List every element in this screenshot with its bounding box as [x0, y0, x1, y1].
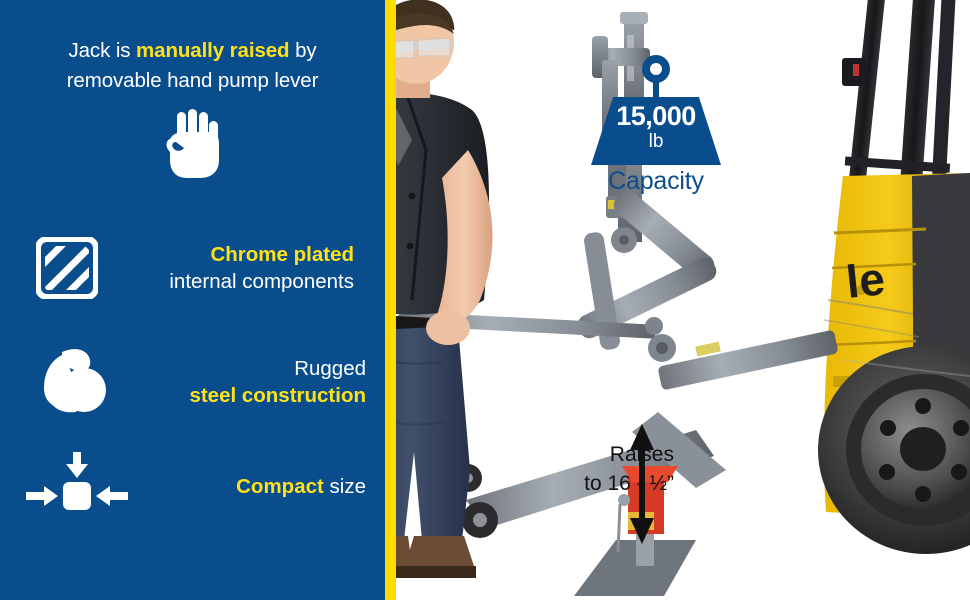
worker	[396, 0, 493, 578]
compact-arrows-icon	[22, 452, 132, 520]
capacity-unit: lb	[591, 131, 721, 153]
feature-steel-construction: Rugged steel construction	[34, 348, 374, 416]
fist-icon-wrap	[0, 108, 385, 185]
fist-icon	[162, 108, 224, 180]
headline-line2: removable hand pump lever	[0, 66, 385, 96]
weight-body: 15,000 lb	[591, 97, 721, 165]
chrome-plate-icon	[36, 237, 98, 299]
feature-compact-size: Compact size	[22, 452, 372, 520]
forklift-brand-text: le	[844, 252, 888, 308]
feature-compact-text: Compact size	[146, 473, 366, 500]
feature-steel-highlight: steel construction	[126, 382, 366, 409]
forklift: le	[818, 0, 970, 554]
double-arrow-vertical-icon	[629, 424, 655, 544]
headline-part1: Jack is	[68, 39, 136, 62]
headline: Jack is manually raised by removable han…	[0, 36, 385, 96]
feature-chrome-text: Chrome plated internal components	[116, 241, 354, 295]
headline-highlight: manually raised	[136, 39, 289, 62]
feature-chrome-plated: Chrome plated internal components	[36, 237, 366, 299]
capacity-value: 15,000	[591, 101, 721, 132]
feature-compact-rest: size	[324, 475, 366, 498]
capacity-label: Capacity	[591, 167, 721, 196]
feature-panel: Jack is manually raised by removable han…	[0, 0, 385, 600]
bicep-icon	[34, 348, 114, 416]
headline-part2: by	[289, 39, 316, 62]
accent-divider-stripe	[385, 0, 396, 600]
feature-steel-lead: Rugged	[126, 355, 366, 382]
capacity-badge: 15,000 lb Capacity	[591, 55, 721, 196]
feature-compact-highlight: Compact	[236, 475, 324, 498]
feature-compact-line: Compact size	[146, 473, 366, 500]
product-photo: le	[396, 0, 970, 600]
weight-icon: 15,000 lb	[591, 55, 721, 165]
feature-chrome-highlight: Chrome plated	[116, 241, 354, 268]
feature-steel-text: Rugged steel construction	[126, 355, 366, 409]
feature-chrome-rest: internal components	[116, 268, 354, 295]
headline-line1: Jack is manually raised by	[0, 36, 385, 66]
product-infographic: le	[0, 0, 970, 600]
